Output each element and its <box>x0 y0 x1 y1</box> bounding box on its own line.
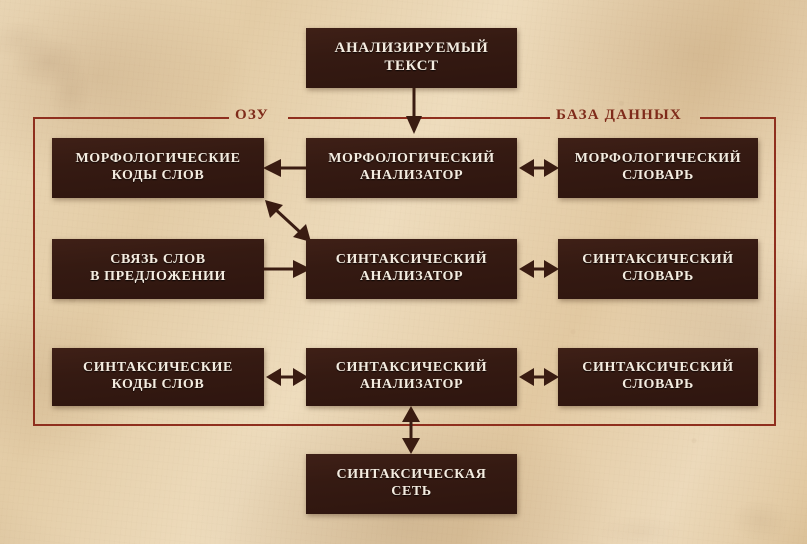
node-syntax-analyzer-1[interactable]: СИНТАКСИЧЕСКИЙ АНАЛИЗАТОР <box>306 239 517 299</box>
node-syntax-analyzer-2-line2: АНАЛИЗАТОР <box>330 377 494 394</box>
node-syntax-analyzer-1-line2: АНАЛИЗАТОР <box>330 269 494 286</box>
node-word-links-line2: В ПРЕДЛОЖЕНИИ <box>84 269 232 286</box>
node-syntax-codes-line2: КОДЫ СЛОВ <box>77 377 239 394</box>
node-morph-codes[interactable]: МОРФОЛОГИЧЕСКИЕ КОДЫ СЛОВ <box>52 138 264 198</box>
node-syntax-network-line1: СИНТАКСИЧЕСКАЯ <box>331 467 493 484</box>
node-word-links-label: СВЯЗЬ СЛОВ В ПРЕДЛОЖЕНИИ <box>78 252 238 285</box>
frame-label-database: БАЗА ДАННЫХ <box>556 107 682 124</box>
node-syntax-network-label: СИНТАКСИЧЕСКАЯ СЕТЬ <box>325 467 499 500</box>
node-analyzed-text[interactable]: АНАЛИЗИРУЕМЫЙ ТЕКСТ <box>306 28 517 88</box>
node-morph-analyzer-line2: АНАЛИЗАТОР <box>322 168 501 185</box>
node-analyzed-text-line2: ТЕКСТ <box>329 58 495 76</box>
node-syntax-network-line2: СЕТЬ <box>331 484 493 501</box>
node-morph-codes-label: МОРФОЛОГИЧЕСКИЕ КОДЫ СЛОВ <box>63 151 252 184</box>
node-morph-dictionary-line1: МОРФОЛОГИЧЕСКИЙ <box>569 151 748 168</box>
node-syntax-codes-label: СИНТАКСИЧЕСКИЕ КОДЫ СЛОВ <box>71 360 245 393</box>
node-morph-dictionary[interactable]: МОРФОЛОГИЧЕСКИЙ СЛОВАРЬ <box>558 138 758 198</box>
frame-top-left-segment <box>33 117 229 119</box>
connector-syntax-analyzer-to-dictionary-2 <box>519 366 559 388</box>
node-morph-codes-line2: КОДЫ СЛОВ <box>69 168 246 185</box>
node-syntax-dictionary-2[interactable]: СИНТАКСИЧЕСКИЙ СЛОВАРЬ <box>558 348 758 406</box>
connector-morph-analyzer-to-morph-codes <box>263 157 311 179</box>
connector-syntax-analyzer-to-dictionary-1 <box>519 258 559 280</box>
diagram-canvas: ОЗУ БАЗА ДАННЫХ <box>0 0 807 544</box>
connector-syntax-codes-to-analyzer-2 <box>266 366 308 388</box>
connector-syntax-analyzer-to-network <box>400 406 422 454</box>
node-morph-analyzer[interactable]: МОРФОЛОГИЧЕСКИЙ АНАЛИЗАТОР <box>306 138 517 198</box>
node-syntax-dictionary-2-label: СИНТАКСИЧЕСКИЙ СЛОВАРЬ <box>570 360 746 393</box>
node-syntax-dictionary-2-line1: СИНТАКСИЧЕСКИЙ <box>576 360 740 377</box>
node-syntax-dictionary-1-label: СИНТАКСИЧЕСКИЙ СЛОВАРЬ <box>570 252 746 285</box>
node-syntax-analyzer-1-label: СИНТАКСИЧЕСКИЙ АНАЛИЗАТОР <box>324 252 500 285</box>
node-syntax-analyzer-1-line1: СИНТАКСИЧЕСКИЙ <box>330 252 494 269</box>
node-morph-dictionary-label: МОРФОЛОГИЧЕСКИЙ СЛОВАРЬ <box>563 151 754 184</box>
frame-top-right-segment <box>700 117 776 119</box>
node-analyzed-text-line1: АНАЛИЗИРУЕМЫЙ <box>329 40 495 58</box>
node-syntax-codes[interactable]: СИНТАКСИЧЕСКИЕ КОДЫ СЛОВ <box>52 348 264 406</box>
node-morph-analyzer-label: МОРФОЛОГИЧЕСКИЙ АНАЛИЗАТОР <box>316 151 507 184</box>
node-syntax-network[interactable]: СИНТАКСИЧЕСКАЯ СЕТЬ <box>306 454 517 514</box>
connector-word-links-to-syntax-analyzer <box>263 258 311 280</box>
node-syntax-dictionary-1-line1: СИНТАКСИЧЕСКИЙ <box>576 252 740 269</box>
connector-morph-codes-to-syntax-analyzer <box>263 198 313 244</box>
node-syntax-analyzer-2[interactable]: СИНТАКСИЧЕСКИЙ АНАЛИЗАТОР <box>306 348 517 406</box>
frame-top-middle-segment <box>288 117 550 119</box>
node-morph-codes-line1: МОРФОЛОГИЧЕСКИЕ <box>69 151 246 168</box>
node-word-links[interactable]: СВЯЗЬ СЛОВ В ПРЕДЛОЖЕНИИ <box>52 239 264 299</box>
node-morph-dictionary-line2: СЛОВАРЬ <box>569 168 748 185</box>
frame-label-ozu: ОЗУ <box>235 107 269 124</box>
connector-text-to-morph-analyzer <box>404 86 424 136</box>
node-syntax-dictionary-2-line2: СЛОВАРЬ <box>576 377 740 394</box>
node-syntax-dictionary-1-line2: СЛОВАРЬ <box>576 269 740 286</box>
connector-morph-analyzer-to-morph-dictionary <box>519 157 559 179</box>
node-syntax-codes-line1: СИНТАКСИЧЕСКИЕ <box>77 360 239 377</box>
node-syntax-dictionary-1[interactable]: СИНТАКСИЧЕСКИЙ СЛОВАРЬ <box>558 239 758 299</box>
node-word-links-line1: СВЯЗЬ СЛОВ <box>84 252 232 269</box>
node-syntax-analyzer-2-label: СИНТАКСИЧЕСКИЙ АНАЛИЗАТОР <box>324 360 500 393</box>
node-morph-analyzer-line1: МОРФОЛОГИЧЕСКИЙ <box>322 151 501 168</box>
node-analyzed-text-label: АНАЛИЗИРУЕМЫЙ ТЕКСТ <box>323 40 501 75</box>
node-syntax-analyzer-2-line1: СИНТАКСИЧЕСКИЙ <box>330 360 494 377</box>
